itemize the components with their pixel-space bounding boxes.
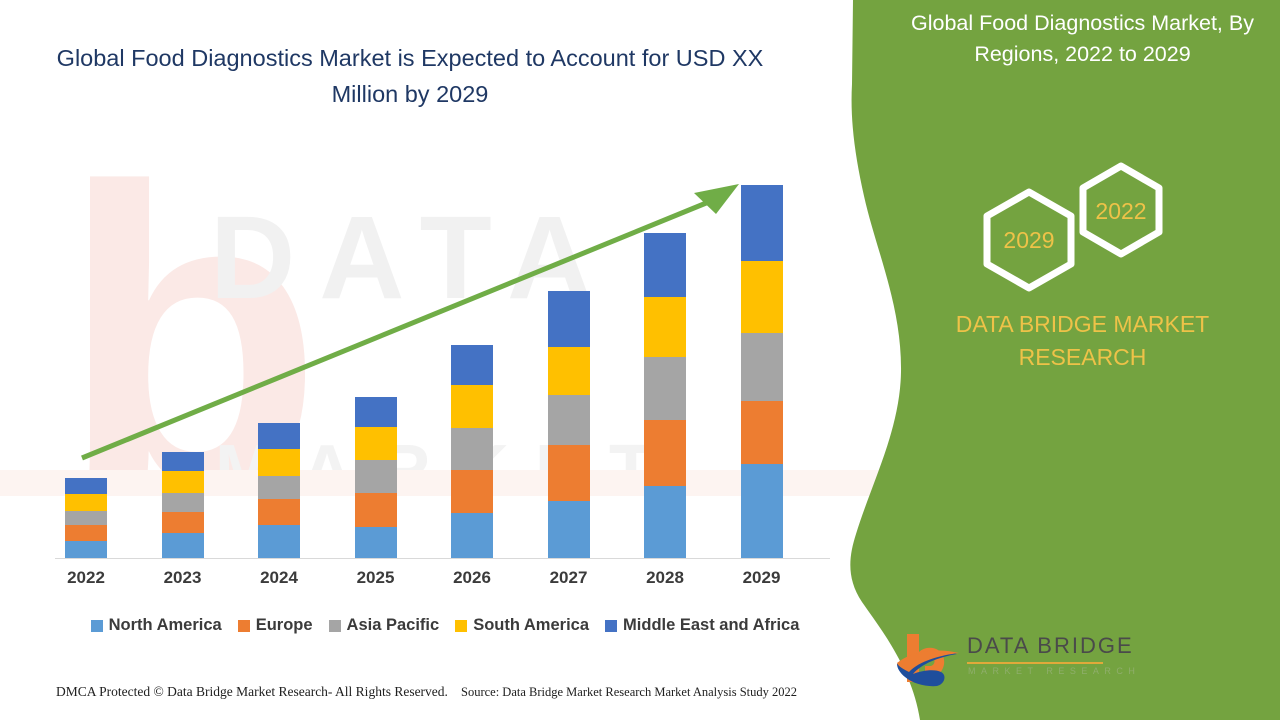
x-axis-label-2026: 2026 — [432, 568, 512, 588]
bar-segment — [355, 460, 397, 493]
bar-segment — [644, 297, 686, 357]
chart-axis-line — [55, 558, 830, 559]
data-bridge-logo: DATA BRIDGE MARKET RESEARCH — [895, 630, 1105, 692]
x-axis-label-2027: 2027 — [529, 568, 609, 588]
bar-2028[interactable] — [644, 233, 686, 558]
bar-segment — [451, 385, 493, 428]
bar-2023[interactable] — [162, 452, 204, 558]
legend-label: North America — [109, 616, 222, 635]
bar-2022[interactable] — [65, 478, 107, 558]
bar-segment — [65, 511, 107, 525]
legend-item[interactable]: Asia Pacific — [329, 616, 440, 635]
legend-item[interactable]: Middle East and Africa — [605, 616, 799, 635]
x-axis-label-2023: 2023 — [143, 568, 223, 588]
bar-2025[interactable] — [355, 397, 397, 558]
bar-segment — [548, 395, 590, 445]
x-axis-label-2029: 2029 — [722, 568, 802, 588]
bar-segment — [355, 397, 397, 427]
bar-segment — [65, 541, 107, 558]
bar-segment — [162, 493, 204, 512]
bar-segment — [162, 512, 204, 533]
bar-segment — [65, 525, 107, 541]
x-axis-labels: 20222023202420252026202720282029 — [55, 568, 830, 596]
bar-2027[interactable] — [548, 291, 590, 558]
legend-label: Asia Pacific — [347, 616, 440, 635]
bar-segment — [258, 499, 300, 525]
bar-segment — [741, 261, 783, 333]
legend-label: Europe — [256, 616, 313, 635]
bar-segment — [644, 357, 686, 420]
bar-segment — [258, 476, 300, 499]
bar-segment — [162, 533, 204, 558]
bar-segment — [65, 478, 107, 494]
data-bridge-mark-icon — [895, 630, 965, 688]
x-axis-label-2025: 2025 — [336, 568, 416, 588]
page-title: Global Food Diagnostics Market is Expect… — [40, 40, 780, 112]
legend-label: Middle East and Africa — [623, 616, 799, 635]
infographic-slide: b DATA MARKET Global Food Diagnostics Ma… — [0, 0, 1280, 720]
bar-segment — [644, 486, 686, 558]
legend-swatch-icon — [238, 620, 250, 632]
source-notice: Source: Data Bridge Market Research Mark… — [461, 685, 797, 700]
bar-segment — [741, 401, 783, 464]
bar-2026[interactable] — [451, 345, 493, 558]
bar-segment — [741, 333, 783, 401]
hexagon-badges: 2022 2029 — [975, 130, 1205, 300]
bar-segment — [65, 494, 107, 511]
bar-segment — [258, 449, 300, 476]
legend-swatch-icon — [329, 620, 341, 632]
legend-swatch-icon — [91, 620, 103, 632]
legend-item[interactable]: Europe — [238, 616, 313, 635]
bar-segment — [451, 470, 493, 513]
bar-segment — [451, 513, 493, 558]
bar-2024[interactable] — [258, 423, 300, 558]
x-axis-label-2024: 2024 — [239, 568, 319, 588]
bar-2029[interactable] — [741, 185, 783, 558]
bar-segment — [355, 493, 397, 527]
bar-segment — [451, 345, 493, 385]
stacked-bar-chart — [55, 160, 830, 558]
brand-name: DATA BRIDGE MARKET RESEARCH — [895, 308, 1270, 374]
bar-segment — [258, 423, 300, 449]
bar-segment — [355, 527, 397, 558]
panel-content: Global Food Diagnostics Market, By Regio… — [880, 0, 1280, 720]
bar-segment — [548, 347, 590, 395]
bar-segment — [355, 427, 397, 460]
bar-segment — [741, 464, 783, 558]
x-axis-label-2028: 2028 — [625, 568, 705, 588]
bar-segment — [451, 428, 493, 470]
logo-name: DATA BRIDGE — [967, 633, 1134, 659]
bar-segment — [162, 471, 204, 493]
panel-title: Global Food Diagnostics Market, By Regio… — [890, 8, 1275, 70]
chart-legend: North AmericaEuropeAsia PacificSouth Ame… — [55, 616, 835, 635]
legend-item[interactable]: North America — [91, 616, 222, 635]
legend-label: South America — [473, 616, 589, 635]
logo-divider — [967, 662, 1103, 664]
bar-segment — [548, 291, 590, 347]
bar-segment — [548, 445, 590, 501]
legend-swatch-icon — [455, 620, 467, 632]
copyright-notice: DMCA Protected © Data Bridge Market Rese… — [56, 684, 448, 700]
bar-segment — [258, 525, 300, 558]
bar-segment — [741, 185, 783, 261]
hexagon-2022-label: 2022 — [1076, 198, 1166, 225]
x-axis-label-2022: 2022 — [46, 568, 126, 588]
bar-segment — [644, 420, 686, 486]
logo-tagline: MARKET RESEARCH — [968, 666, 1140, 676]
bar-segment — [162, 452, 204, 471]
legend-item[interactable]: South America — [455, 616, 589, 635]
legend-swatch-icon — [605, 620, 617, 632]
bar-segment — [644, 233, 686, 297]
hexagon-2029-label: 2029 — [984, 227, 1074, 254]
bar-segment — [548, 501, 590, 558]
